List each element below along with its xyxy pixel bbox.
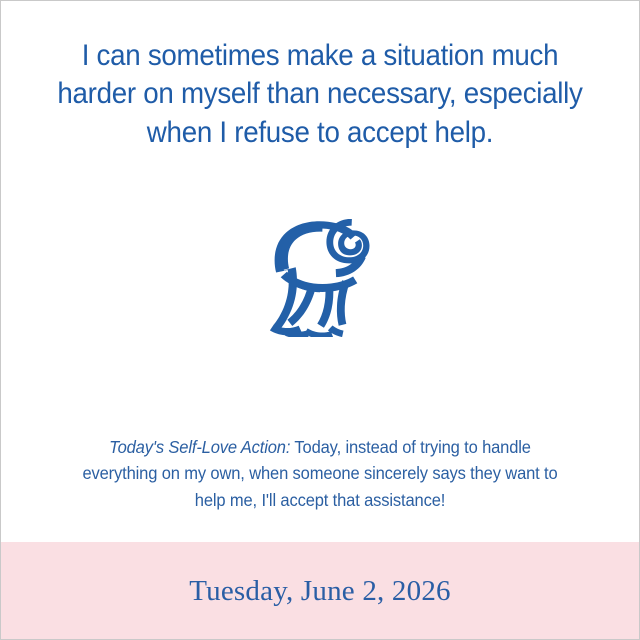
footer-date-text: Tuesday, June 2, 2026: [189, 577, 450, 606]
self-love-action-label: Today's Self-Love Action:: [109, 437, 290, 457]
self-love-quote-card: I can sometimes make a situation much ha…: [0, 0, 640, 640]
ornamental-shell-scroll-emblem: [263, 219, 377, 337]
card-content-area: I can sometimes make a situation much ha…: [1, 1, 639, 542]
self-love-action-text: Today's Self-Love Action: Today, instead…: [17, 434, 623, 513]
date-footer-band: Tuesday, June 2, 2026: [1, 542, 639, 639]
emblem-container: [1, 219, 639, 337]
quote-text: I can sometimes make a situation much ha…: [20, 1, 620, 152]
